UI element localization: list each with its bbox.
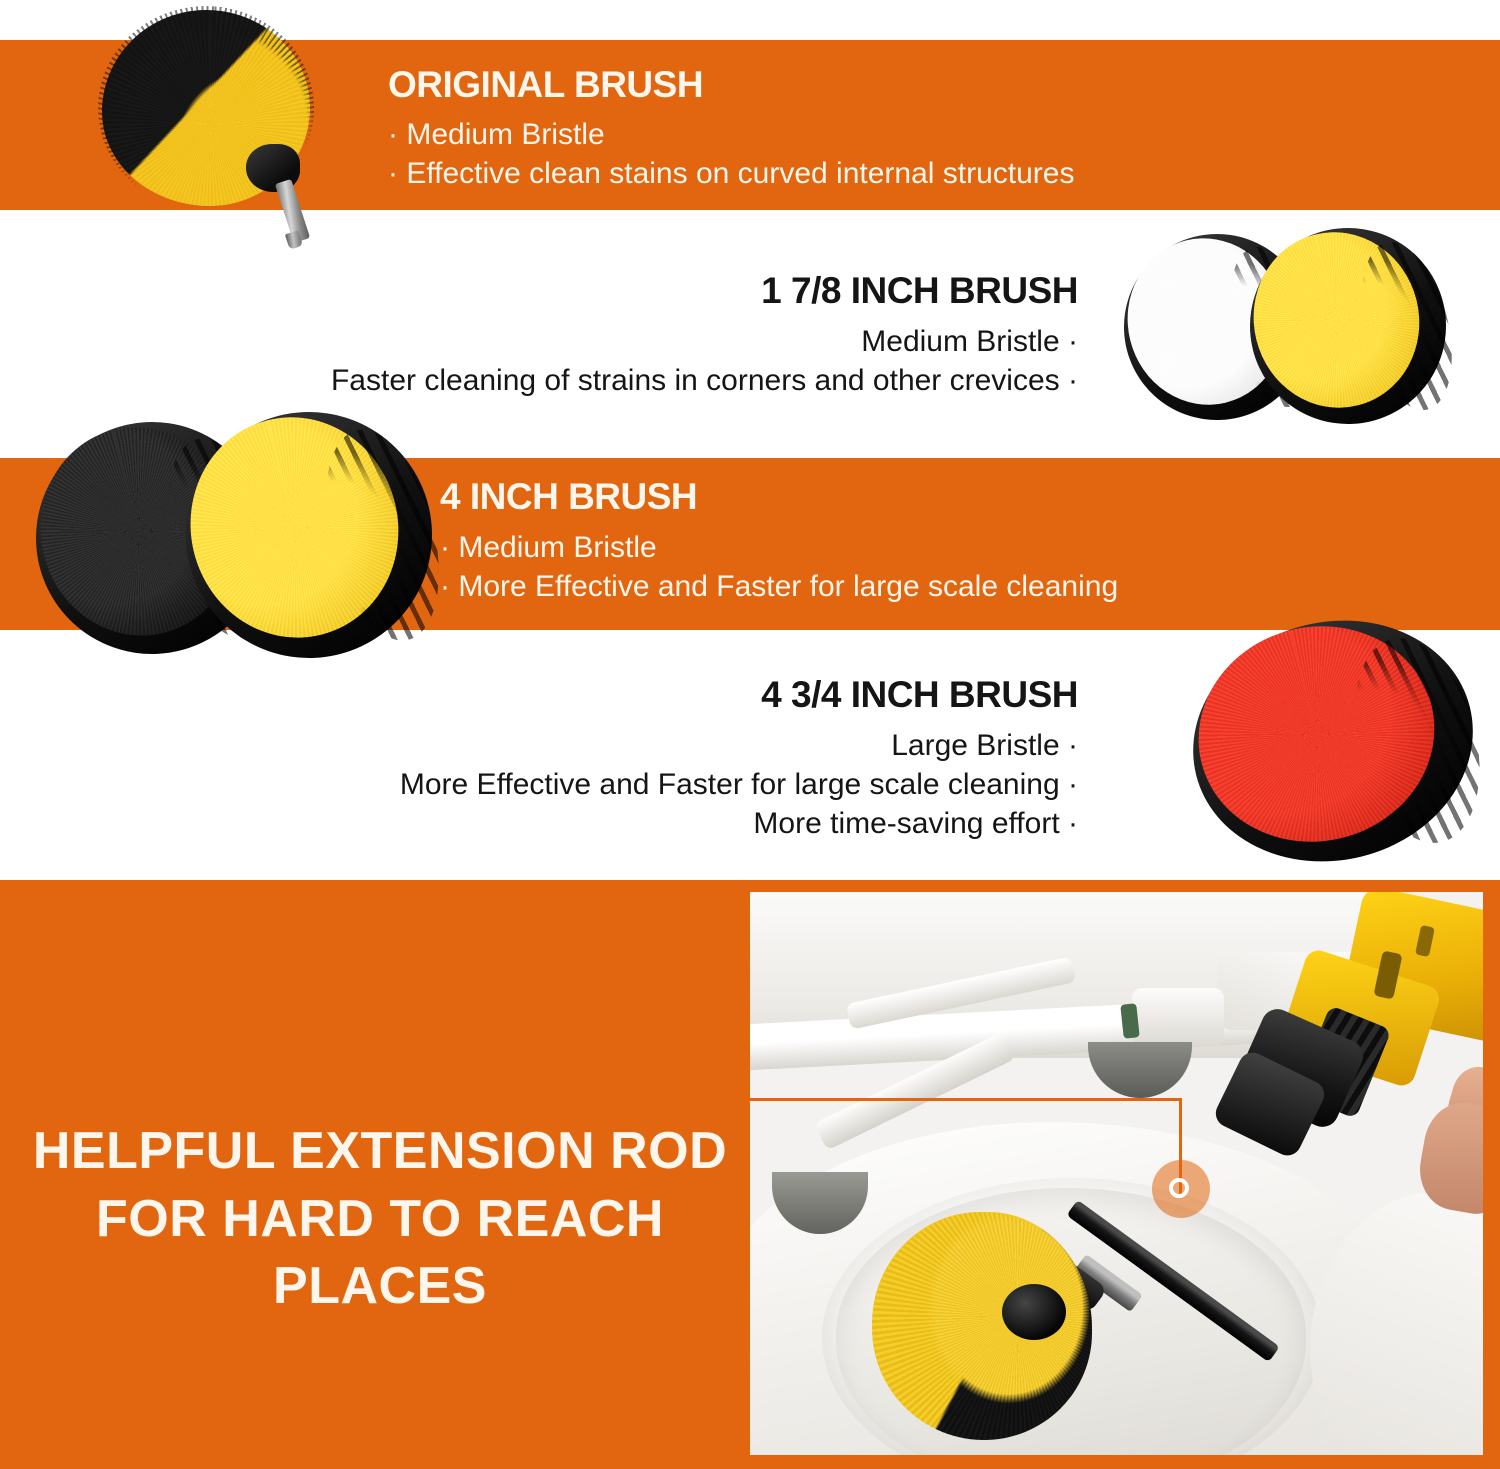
- original-bulb-brush-image: [96, 4, 346, 249]
- disc-brush-red: [1192, 622, 1474, 860]
- disc-brush-yellow: [186, 412, 432, 658]
- bullet-text: Medium Bristle: [861, 325, 1059, 358]
- headline-line: HELPFUL EXTENSION ROD: [30, 1118, 730, 1186]
- toilet-brush-head-fringe: [866, 1206, 1098, 1446]
- bullet-line: · Effective clean stains on curved inter…: [388, 154, 1074, 193]
- toilet-lid-indicator: [1120, 1003, 1139, 1038]
- bullet-text: Medium Bristle: [406, 118, 604, 151]
- bullet-dot-icon: ·: [388, 154, 398, 193]
- extension-rod-usage-photo: [750, 892, 1483, 1455]
- extension-rod-headline: HELPFUL EXTENSION ROD FOR HARD TO REACH …: [30, 1118, 730, 1321]
- section-title-four-three-quarter-brush: 4 3/4 INCH BRUSH: [400, 676, 1078, 715]
- product-infographic: ORIGINAL BRUSH · Medium Bristle · Effect…: [0, 0, 1500, 1469]
- bullet-dot-icon: ·: [1068, 726, 1078, 765]
- section-four-inch-text: 4 INCH BRUSH · Medium Bristle · More Eff…: [440, 478, 1118, 606]
- bullet-text: Large Bristle: [891, 729, 1059, 762]
- bullet-line: · Medium Bristle: [388, 115, 1074, 154]
- bullet-text: Faster cleaning of strains in corners an…: [331, 364, 1060, 397]
- headline-line: FOR HARD TO REACH: [30, 1186, 730, 1254]
- bullet-text: Effective clean stains on curved interna…: [406, 157, 1074, 190]
- bullet-text: Medium Bristle: [458, 531, 656, 564]
- bullet-dot-icon: ·: [440, 528, 450, 567]
- section-title-one-seven-eighths-brush: 1 7/8 INCH BRUSH: [331, 272, 1078, 311]
- bullet-text: More time-saving effort: [753, 807, 1059, 840]
- section-title-original-brush: ORIGINAL BRUSH: [388, 66, 1074, 105]
- bullet-line: Faster cleaning of strains in corners an…: [331, 361, 1078, 400]
- headline-line: PLACES: [30, 1253, 730, 1321]
- bullet-dot-icon: ·: [388, 115, 398, 154]
- disc-bristle-fringe: [1161, 585, 1500, 896]
- bullet-dot-icon: ·: [1068, 804, 1078, 843]
- callout-ring-marker-icon: [1169, 1178, 1189, 1198]
- toilet-lid-tab: [1132, 988, 1224, 1046]
- toilet-brush-hub: [1002, 1284, 1066, 1340]
- disc-bristle-fringe: [1223, 201, 1473, 451]
- bullet-line: · More Effective and Faster for large sc…: [440, 567, 1118, 606]
- disc-brush-yellow: [1250, 228, 1446, 424]
- section-one-seven-eighths-text: 1 7/8 INCH BRUSH Medium Bristle · Faster…: [331, 272, 1078, 400]
- bullet-line: Large Bristle ·: [400, 726, 1078, 765]
- section-original-brush-text: ORIGINAL BRUSH · Medium Bristle · Effect…: [388, 66, 1074, 193]
- bullet-text: More Effective and Faster for large scal…: [458, 570, 1118, 603]
- bullet-line: Medium Bristle ·: [331, 322, 1078, 361]
- bullet-line: More time-saving effort ·: [400, 804, 1078, 843]
- bullet-dot-icon: ·: [440, 567, 450, 606]
- bullet-dot-icon: ·: [1068, 322, 1078, 361]
- four-inch-brush-image: [34, 412, 434, 667]
- four-three-quarter-brush-image: [1192, 618, 1482, 863]
- bullet-dot-icon: ·: [1068, 765, 1078, 804]
- bullet-dot-icon: ·: [1068, 361, 1078, 400]
- bullet-text: More Effective and Faster for large scal…: [400, 768, 1060, 801]
- disc-bristle-fringe: [154, 380, 464, 690]
- bullet-line: · Medium Bristle: [440, 528, 1118, 567]
- bullet-line: More Effective and Faster for large scal…: [400, 765, 1078, 804]
- callout-leader-line: [750, 1098, 1182, 1101]
- section-title-four-inch-brush: 4 INCH BRUSH: [440, 478, 1118, 517]
- toilet-seat-bolt: [1088, 1042, 1192, 1098]
- section-four-three-quarter-text: 4 3/4 INCH BRUSH Large Bristle · More Ef…: [400, 676, 1078, 843]
- one-seven-eighths-brush-image: [1120, 228, 1470, 443]
